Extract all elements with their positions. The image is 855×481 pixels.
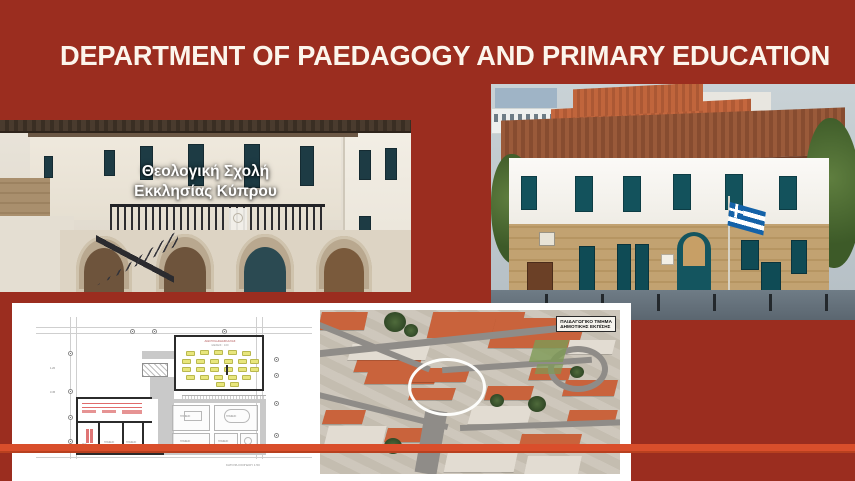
window-lower xyxy=(617,244,631,292)
window xyxy=(623,176,641,212)
location-highlight-ellipse xyxy=(408,358,486,416)
grid-line xyxy=(36,327,312,328)
aerial-map-label: ΠΑΙΔΑΓΩΓΙΚΟ ΤΜΗΜΑ ΔΗΜΟΤΙΚΗΣ ΕΚΠ/ΣΗΣ xyxy=(556,316,616,332)
caption-line-2: Εκκλησίας Κύπρου xyxy=(0,182,411,202)
roof-beam xyxy=(28,133,358,137)
building-roof xyxy=(322,410,366,424)
bollard xyxy=(769,294,772,311)
dimension-marker xyxy=(130,329,135,334)
roof-eave xyxy=(0,120,411,133)
wall-plaque xyxy=(539,232,555,246)
annotation-block xyxy=(82,410,96,413)
window-lower xyxy=(579,246,595,292)
dimension-marker xyxy=(68,415,73,420)
dimension-marker xyxy=(152,329,157,334)
dimension-marker xyxy=(274,357,279,362)
grid-line xyxy=(36,457,312,458)
dimension-marker xyxy=(68,351,73,356)
department-building-photo xyxy=(491,84,855,320)
dimension-text: 1.20 xyxy=(50,367,55,370)
window-lower xyxy=(741,240,759,270)
aerial-label-line-2: ΔΗΜΟΤΙΚΗΣ ΕΚΠ/ΣΗΣ xyxy=(560,324,612,330)
arch-opening xyxy=(244,247,286,292)
annotation-line xyxy=(82,407,142,408)
wall-sign xyxy=(661,254,674,265)
arch xyxy=(316,236,372,292)
corridor xyxy=(142,351,174,359)
window-lower xyxy=(791,240,807,274)
window xyxy=(575,176,593,212)
grid-line xyxy=(70,317,71,459)
tree xyxy=(404,324,418,337)
tree xyxy=(528,396,546,412)
accent-rule-divider xyxy=(0,444,855,451)
bottom-image-panel: 1.20 3.45 ΑΙΘΟΥΣΑ ΔΙΔΑΣΚΑΛΙΑΣ ΘΕΣΕΙΣ : 1… xyxy=(12,303,631,481)
caption-line-1: Θεολογική Σχολή xyxy=(0,162,411,182)
bollard xyxy=(657,294,660,311)
wall xyxy=(174,389,264,391)
presentation-slide: DEPARTMENT OF PAEDAGOGY AND PRIMARY EDUC… xyxy=(0,0,855,481)
annotation-block xyxy=(90,429,93,443)
wall xyxy=(262,335,264,391)
theology-photo-caption: Θεολογική Σχολή Εκκλησίας Κύπρου xyxy=(0,162,411,202)
building-roof-light xyxy=(524,456,582,474)
wall xyxy=(76,453,164,455)
grid-line xyxy=(36,333,312,334)
window-lower xyxy=(761,262,781,292)
bollard xyxy=(713,294,716,311)
tree xyxy=(490,394,504,407)
arch xyxy=(236,234,294,292)
stair-hatch xyxy=(142,363,168,377)
annotation-block xyxy=(86,429,89,443)
window xyxy=(779,176,797,210)
dimension-marker xyxy=(68,389,73,394)
meeting-table xyxy=(224,409,250,423)
entrance-opening xyxy=(683,236,705,266)
dimension-marker xyxy=(274,433,279,438)
wall-fill xyxy=(164,399,266,403)
annotation-block xyxy=(122,410,142,414)
wall xyxy=(76,421,152,423)
page-title: DEPARTMENT OF PAEDAGOGY AND PRIMARY EDUC… xyxy=(60,40,788,72)
building-roof-light xyxy=(444,450,519,472)
dimension-marker xyxy=(274,401,279,406)
dimension-marker xyxy=(274,373,279,378)
lectern xyxy=(226,365,228,375)
arch-opening xyxy=(324,248,364,292)
annotation-block xyxy=(102,410,116,413)
corridor xyxy=(150,377,174,399)
tree xyxy=(570,366,584,378)
tree xyxy=(384,312,406,332)
wall xyxy=(76,397,152,399)
furniture xyxy=(184,411,202,421)
bollard xyxy=(825,294,828,311)
theology-school-photo: Θεολογική Σχολή Εκκλησίας Κύπρου xyxy=(0,120,411,292)
plan-footer-note: ΚΑΤΟΨΗ ΙΣΟΓΕΙΟΥ 1:50 xyxy=(226,463,260,467)
wooden-door xyxy=(527,262,553,292)
green-field xyxy=(529,340,569,362)
dimension-marker xyxy=(222,329,227,334)
green-field xyxy=(535,364,564,374)
window xyxy=(673,174,691,210)
wall xyxy=(174,335,176,391)
lecture-hall-subtitle: ΘΕΣΕΙΣ : 100 xyxy=(192,343,248,347)
window-lower xyxy=(635,244,649,292)
annotation-line xyxy=(82,403,142,404)
building-roof-light xyxy=(467,406,532,424)
window xyxy=(521,176,537,210)
dimension-text: 3.45 xyxy=(50,391,55,394)
banner-seal xyxy=(233,213,243,223)
wall xyxy=(174,335,264,337)
